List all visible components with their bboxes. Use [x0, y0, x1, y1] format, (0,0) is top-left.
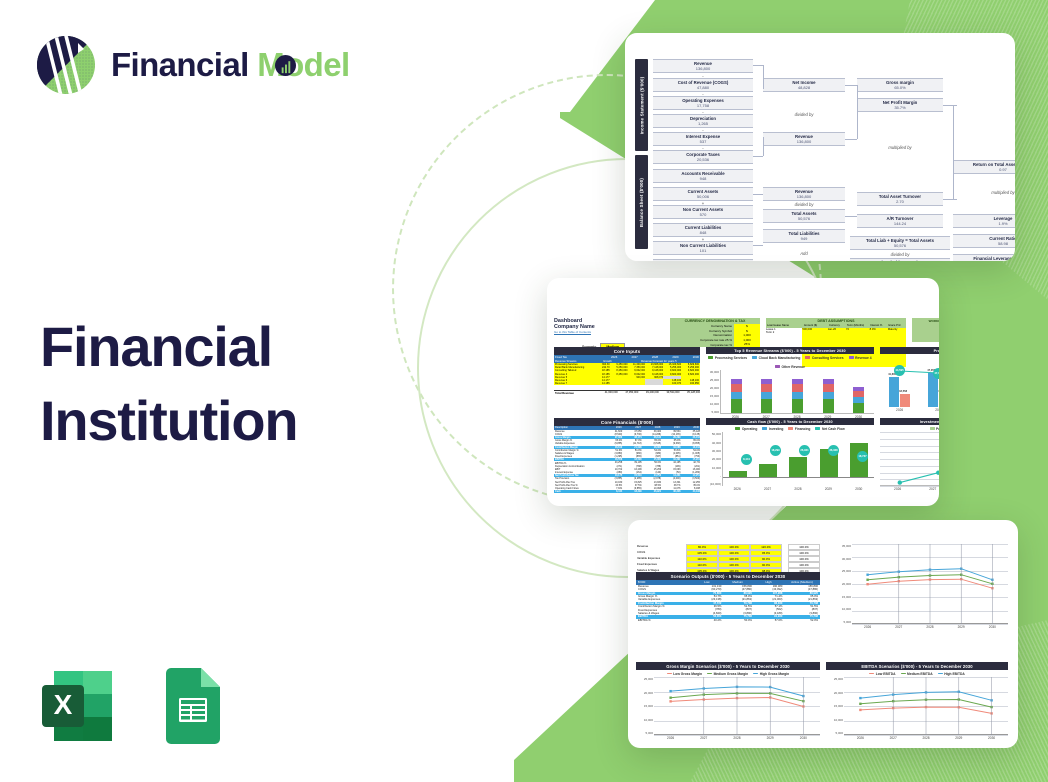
axis-tick: 2027	[890, 736, 897, 740]
dupont-node: Return on Total Assets (ROA)0.97	[953, 160, 1015, 174]
axis-tick: 20,000	[710, 386, 719, 390]
x-axis-ticks: 20262027202820292030	[880, 407, 939, 412]
core-financials-rows: Revenue41,60047,05039,40039,53435,128COG…	[554, 430, 700, 494]
axis-tick: 2029	[767, 736, 774, 740]
legend-item: Low Gross Margin	[667, 672, 702, 676]
gross-margin-scenarios-chart: Gross Margin Scenarios ($'000) - 5 Years…	[636, 662, 820, 742]
chart-data-point	[866, 574, 868, 576]
core-inputs-table: Core Inputs Fixed Tax 2026 2027 2028 202…	[554, 347, 700, 396]
legend-swatch	[667, 673, 672, 674]
axis-tick: 2027	[764, 487, 771, 491]
axis-tick: 30,000	[712, 449, 721, 453]
axis-tick: (10,000)	[710, 482, 721, 486]
chart-data-point	[669, 690, 671, 692]
scenario-outputs-table: Scenario Outputs ($'000) - 5 Years to De…	[636, 572, 820, 622]
chart-bars	[721, 370, 874, 413]
chart-bar	[761, 379, 772, 414]
y-axis-ticks: 50,00040,00030,00020,00010,000-(10,000)	[706, 432, 722, 486]
axis-tick: 20,000	[842, 582, 851, 586]
scenario-summary-chart: 35,00030,00025,00020,00015,00010,0005,00…	[832, 544, 1008, 634]
brand-lockup: Financial Model	[34, 33, 350, 97]
chart-data-point	[859, 703, 861, 705]
dashboard-toc-link[interactable]: Go to this Table of Contents	[554, 330, 664, 334]
axis-tick: 25,000	[842, 569, 851, 573]
legend-item: Cloud Back Manufacturing	[752, 356, 800, 360]
legend-swatch	[788, 427, 793, 430]
legend-item: Net Cash Flow	[815, 427, 844, 431]
dupont-operator-word: divided by	[875, 252, 925, 257]
axis-tick: 2030	[800, 736, 807, 740]
table-row: Cash8,44418,29926,92136,32844,136	[554, 490, 700, 493]
legend-swatch	[775, 365, 780, 368]
axis-tick: 2029	[958, 625, 965, 629]
scenario-content: Revenue80.0%100.0%120.0%100.0%COGS105.0%…	[636, 544, 1010, 718]
legend-item: Low EBITDA	[869, 672, 895, 676]
chart-bar	[759, 464, 777, 479]
chart-data-point	[669, 697, 671, 699]
chart-line	[880, 432, 939, 491]
chart-trend-line	[880, 361, 939, 407]
legend-item: High EBITDA	[938, 672, 965, 676]
dupont-connector	[753, 245, 763, 246]
scenario-outputs-rows: Revenue131,130156,800190,380156,800COGS(…	[636, 585, 820, 622]
axis-tick: 25,000	[834, 677, 843, 681]
legend-swatch	[762, 427, 767, 430]
dupont-node: Non Current Liabilities101	[653, 241, 753, 255]
page-title-line-1: Financial	[40, 310, 410, 384]
axis-tick: 2030	[988, 736, 995, 740]
dupont-node: Interest Expense537	[653, 132, 753, 146]
axis-tick: 2026	[667, 736, 674, 740]
axis-tick: 5,000	[645, 731, 653, 735]
app-format-icons: X	[36, 665, 234, 747]
dupont-node: Total Asset Turnover2.70	[857, 192, 943, 206]
axis-tick: 15,000	[834, 704, 843, 708]
x-axis-ticks: 20262027202820292030	[706, 486, 874, 491]
chart-legend: Payback yearCumulative Cash Generated (A…	[880, 425, 939, 432]
legend-swatch	[708, 356, 713, 359]
dashboard-header: Dashboard Company Name Go to this Table …	[554, 318, 664, 350]
chart-bar	[792, 379, 803, 414]
axis-tick: 10,000	[712, 466, 721, 470]
dupont-connector	[943, 199, 957, 200]
axis-tick: 20,000	[712, 457, 721, 461]
legend-item: Revenue 4	[849, 356, 872, 360]
axis-tick: 2027	[935, 408, 939, 412]
ebitda-scenarios-chart: EBITDA Scenarios ($'000) - 5 Years to De…	[826, 662, 1008, 742]
table-row: Revenue 714.185160,070160,950	[554, 382, 700, 385]
dupont-node: Cost of Revenue (COGS)47,880	[653, 78, 753, 92]
y-axis-ticks: 30,00025,00020,00015,00010,0005,000	[706, 370, 720, 414]
axis-tick: 30,000	[710, 370, 719, 374]
dupont-node: Total Liabilities949	[763, 229, 845, 243]
chart-legend: Low Gross MarginMedium Gross MarginHigh …	[636, 670, 820, 677]
scenario-analysis-card[interactable]: Revenue80.0%100.0%120.0%100.0%COGS105.0%…	[628, 520, 1018, 748]
legend-item: Investing	[762, 427, 783, 431]
dupont-connector	[753, 156, 763, 157]
dupont-node: Depreciation1,265	[653, 114, 753, 128]
dupont-node: Current Assets50,006	[653, 187, 753, 201]
dupont-node: Current Liabilities848	[653, 223, 753, 237]
chart-data-point	[866, 579, 868, 581]
dupont-node: A/R Turnover144.24	[857, 214, 943, 228]
dupont-operator-word: Add	[779, 251, 829, 256]
gridline	[654, 735, 820, 736]
dupont-connector	[953, 105, 954, 199]
axis-tick: 2028	[794, 487, 801, 491]
dupont-connector	[763, 65, 764, 89]
legend-swatch	[815, 427, 820, 430]
axis-tick: 2026	[896, 408, 903, 412]
y-axis-ticks: 25,00020,00015,00010,0005,000	[826, 677, 844, 735]
brand-wordmark: Financial Model	[111, 46, 350, 84]
axis-tick: 20,000	[834, 691, 843, 695]
dupont-operator-word: divided by	[779, 112, 829, 117]
brand-o-circle-chart-icon	[275, 55, 296, 76]
legend-item: Other Revenue	[775, 365, 805, 369]
cash-flow-chart: Cash flow ($'000) - 5 Years to December …	[706, 418, 874, 492]
axis-tick: 35,000	[842, 544, 851, 548]
core-financials-table: Core Financials ($'000) Description 2026…	[554, 418, 700, 493]
chart-bar	[823, 379, 834, 414]
y-axis-ticks: 35,00030,00025,00020,00015,00010,0005,00…	[832, 544, 852, 624]
gridline	[852, 624, 1008, 625]
dupont-node: Net Profit Margin35.7%	[857, 98, 943, 112]
chart-data-point	[866, 583, 868, 585]
dupont-node: Net Income48,828	[763, 78, 845, 92]
axis-tick: -	[720, 474, 721, 478]
table-row: Term 2	[766, 331, 906, 349]
chart-data-point	[669, 700, 671, 702]
dashboard-card[interactable]: Dashboard Company Name Go to this Table …	[547, 278, 939, 506]
legend-item: Payback year	[930, 427, 940, 431]
axis-tick: 5,000	[843, 620, 851, 624]
financial-model-circle-logo-icon	[34, 33, 98, 97]
dupont-node: Total Assets50,576	[763, 209, 845, 223]
brand-word-financial: Financial	[111, 46, 249, 83]
axis-tick: 30,000	[842, 557, 851, 561]
chart-lines	[852, 544, 1008, 624]
dupont-node: Revenue136,800	[653, 59, 753, 73]
table-row: EBITDA %40.2%50.0%57.0%52.0%	[636, 619, 820, 622]
chart-bar	[731, 379, 742, 414]
legend-item: Medium EBITDA	[901, 672, 933, 676]
axis-tick: 2026	[734, 487, 741, 491]
dupont-node: Current Ratio58.98	[953, 234, 1015, 248]
left-content-column: Financial Model Financial Institution	[0, 0, 440, 782]
dupont-node: Accounts Receivable948	[653, 169, 753, 183]
chart-legend: Low EBITDAMedium EBITDAHigh EBITDA	[826, 670, 1008, 677]
balance-sheet-label: Balance Sheet ($'000)	[635, 155, 648, 249]
google-sheets-icon[interactable]	[152, 665, 234, 747]
dupont-node: Non Current Assets570	[653, 205, 753, 219]
legend-item: High Gross Margin	[753, 672, 789, 676]
dupont-connector	[857, 85, 858, 139]
axis-tick: 2029	[825, 487, 832, 491]
chart-lines	[844, 677, 1008, 735]
dupont-connector	[845, 85, 857, 86]
dupont-connector	[763, 137, 764, 156]
legend-swatch	[735, 427, 740, 430]
working-capital-panel: WORKING CAPITAL & DEPRECIATION Accounts …	[912, 318, 939, 342]
axis-tick: 15,000	[644, 704, 653, 708]
chart-bar	[853, 387, 864, 413]
y-axis-ticks: 25,00020,00015,00010,0005,000	[636, 677, 654, 735]
legend-item: Processing Services	[708, 356, 747, 360]
dupont-connector	[943, 105, 957, 106]
axis-tick: 2028	[922, 736, 929, 740]
dupont-connector	[753, 65, 763, 66]
dupont-node: Leverage1.9%	[953, 214, 1015, 228]
axis-tick: 25,000	[644, 677, 653, 681]
legend-swatch	[901, 673, 906, 674]
dupont-node: Revenue136,800	[763, 187, 845, 201]
axis-tick: 15,000	[842, 595, 851, 599]
axis-tick: 5,000	[711, 410, 719, 414]
chart-data-point	[859, 697, 861, 699]
chart-bar	[789, 457, 807, 479]
page-title: Financial Institution	[40, 310, 410, 458]
legend-swatch	[805, 356, 810, 359]
page-title-line-2: Institution	[40, 384, 410, 458]
currency-denomination-panel: CURRENCY DENOMINATION & TAX Currency Nam…	[670, 318, 760, 347]
axis-tick: 10,000	[834, 718, 843, 722]
legend-item: Operating	[735, 427, 757, 431]
chart-legend: OperatingInvestingFinancingNet Cash Flow	[706, 425, 874, 432]
dupont-node: Corporate Taxes20,536	[653, 150, 753, 164]
svg-text:X: X	[54, 689, 73, 720]
income-statement-label: Income Statement ($'000)	[635, 59, 648, 151]
profitability-chart: Profitability ($'000) - 5 Years to Decem…	[880, 347, 939, 411]
top-revenue-streams-chart: Top 5 Revenue Streams ($'000) - 5 Years …	[706, 347, 874, 411]
dupont-connector	[753, 194, 763, 195]
dupont-node: Financial Leverage multiplier63.22	[953, 254, 1015, 261]
axis-tick: 2028	[733, 736, 740, 740]
legend-swatch	[753, 673, 758, 674]
dupont-connector	[845, 216, 857, 217]
axis-tick: 2027	[700, 736, 707, 740]
dupont-operator-word: multiplied by	[875, 145, 925, 150]
axis-tick: 10,000	[644, 718, 653, 722]
chart-legend: RevenueEBITDAEBITDA %	[880, 354, 939, 361]
investment-payback-chart: Investment Payback Chart ($'000) - 5 Yea…	[880, 418, 939, 492]
axis-tick: 10,000	[842, 607, 851, 611]
axis-tick: 2028	[926, 625, 933, 629]
legend-swatch	[707, 673, 712, 674]
legend-swatch	[849, 356, 854, 359]
axis-tick: 20,000	[644, 691, 653, 695]
axis-tick: 15,000	[710, 394, 719, 398]
dupont-connector	[845, 139, 857, 140]
legend-item: Financing	[788, 427, 810, 431]
legend-swatch	[752, 356, 757, 359]
dupont-node: Equity49,628	[653, 259, 753, 261]
dupont-node: Total Liab + Equity = Total Assets50,576	[850, 236, 950, 250]
axis-tick: 2026	[864, 625, 871, 629]
dupont-operator-word: divided by	[779, 202, 829, 207]
microsoft-excel-icon[interactable]: X	[36, 665, 118, 747]
dupont-analysis-card[interactable]: Income Statement ($'000) Balance Sheet (…	[625, 33, 1015, 261]
axis-tick: 2030	[989, 625, 996, 629]
legend-item: Medium Gross Margin	[707, 672, 748, 676]
chart-lines	[654, 677, 820, 735]
legend-swatch	[869, 673, 874, 674]
axis-tick: 40,000	[712, 441, 721, 445]
axis-tick: 2030	[855, 487, 862, 491]
axis-tick: 5,000	[835, 731, 843, 735]
scenario-sensitivity-table: Revenue80.0%100.0%120.0%100.0%COGS105.0%…	[636, 544, 820, 574]
dupont-node: Revenue136,800	[763, 132, 845, 146]
legend-swatch	[930, 427, 935, 430]
axis-tick: 50,000	[712, 432, 721, 436]
axis-tick: 2026	[857, 736, 864, 740]
axis-tick: 25,000	[710, 378, 719, 382]
dupont-node: Operating Expenses17,758	[653, 96, 753, 110]
chart-data-point	[859, 709, 861, 711]
legend-swatch	[938, 673, 943, 674]
dashboard-content: Dashboard Company Name Go to this Table …	[554, 318, 932, 498]
axis-tick: 10,000	[710, 402, 719, 406]
chart-bubble: 47,050	[933, 368, 939, 379]
dupont-operator-word: multiplied by	[978, 190, 1015, 195]
brand-word-model: Model	[257, 46, 349, 83]
dupont-node: Gross margin65.0%	[857, 78, 943, 92]
legend-item: Consulting Services	[805, 356, 843, 360]
axis-tick: 2029	[955, 736, 962, 740]
core-inputs-rows: Processing Services364.309,450,00011,340…	[554, 363, 700, 385]
dupont-tree: Income Statement ($'000) Balance Sheet (…	[635, 59, 1009, 247]
chart-legend: Processing ServicesCloud Back Manufactur…	[706, 354, 874, 370]
gridline	[844, 735, 1008, 736]
axis-tick: 2027	[895, 625, 902, 629]
dupont-node: Shareholder's Equity800	[850, 258, 950, 261]
